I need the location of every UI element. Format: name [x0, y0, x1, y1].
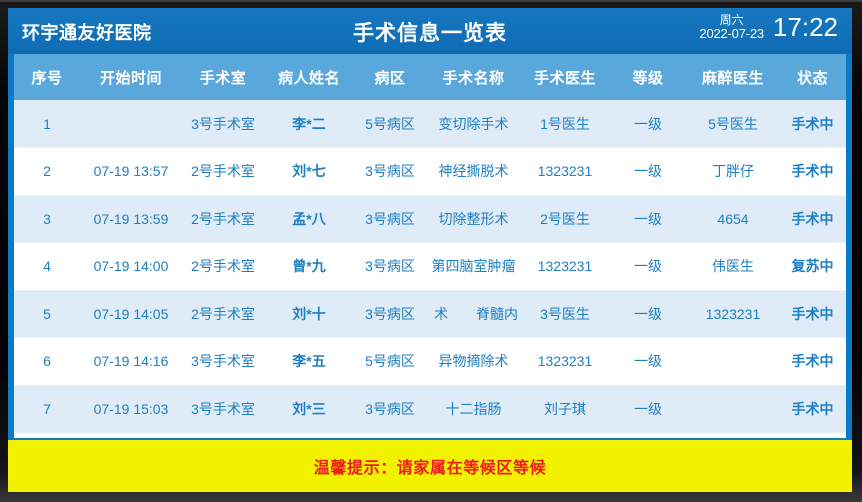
- row-operation-name: 异物摘除术: [426, 338, 521, 386]
- row-status: 复苏中: [779, 243, 846, 291]
- row-ward: 3号病区: [354, 385, 426, 433]
- surgery-table: 序号 开始时间 手术室 病人姓名 病区 手术名称 手术医生 等级 麻醉医生 状态…: [14, 54, 846, 433]
- row-index: 6: [14, 338, 80, 386]
- row-surgeon: 1号医生: [521, 100, 609, 148]
- column-header-anesthetist: 麻醉医生: [687, 54, 779, 100]
- row-level: 一级: [609, 243, 687, 291]
- row-operation-name: 变切除手术: [426, 100, 521, 148]
- table-row: 407-19 14:002号手术室曾*九3号病区第四脑室肿瘤1323231一级伟…: [14, 243, 846, 291]
- table-row: 507-19 14:052号手术室刘*十3号病区术 脊髓内3号医生一级13232…: [14, 290, 846, 338]
- row-index: 7: [14, 385, 80, 433]
- row-anesthetist: [687, 338, 779, 386]
- row-status: 手术中: [779, 338, 846, 386]
- row-status: 手术中: [779, 195, 846, 243]
- operation-name-text: 第四脑室肿瘤: [428, 256, 519, 276]
- column-header-patient: 病人姓名: [264, 54, 354, 100]
- operation-name-text: 异物摘除术: [428, 351, 519, 371]
- surgery-board-app: 环宇通友好医院 手术信息一览表 周六 2022-07-23 17:22 序: [8, 8, 852, 492]
- row-level: 一级: [609, 385, 687, 433]
- table-body: 13号手术室李*二5号病区变切除手术1号医生一级5号医生手术中207-19 13…: [14, 100, 846, 433]
- row-patient-name: 刘*三: [264, 385, 354, 433]
- table-row: 607-19 14:163号手术室李*五5号病区异物摘除术1323231一级手术…: [14, 338, 846, 386]
- footer-notice-bar: 温馨提示：请家属在等候区等候: [8, 438, 852, 492]
- column-header-operation: 手术名称: [426, 54, 521, 100]
- operation-name-text: 十二指肠: [428, 399, 519, 419]
- table-header: 序号 开始时间 手术室 病人姓名 病区 手术名称 手术医生 等级 麻醉医生 状态: [14, 54, 846, 100]
- table-row: 707-19 15:033号手术室刘*三3号病区十二指肠刘子琪一级手术中: [14, 385, 846, 433]
- row-ward: 3号病区: [354, 148, 426, 196]
- bezel-highlight: [0, 0, 862, 4]
- row-start-time: 07-19 15:03: [80, 385, 182, 433]
- row-level: 一级: [609, 148, 687, 196]
- operation-name-text: 术 脊髓内: [428, 304, 519, 324]
- table-row: 307-19 13:592号手术室孟*八3号病区切除整形术2号医生一级4654手…: [14, 195, 846, 243]
- row-patient-name: 李*五: [264, 338, 354, 386]
- row-operation-name: 术 脊髓内: [426, 290, 521, 338]
- row-anesthetist: 5号医生: [687, 100, 779, 148]
- notice-text: 温馨提示：请家属在等候区等候: [314, 454, 546, 478]
- row-operation-name: 十二指肠: [426, 385, 521, 433]
- row-index: 2: [14, 148, 80, 196]
- row-surgeon: 刘子琪: [521, 385, 609, 433]
- clock-time: 17:22: [773, 12, 838, 43]
- column-header-surgeon: 手术医生: [521, 54, 609, 100]
- row-status: 手术中: [779, 290, 846, 338]
- row-ward: 3号病区: [354, 195, 426, 243]
- row-status: 手术中: [779, 100, 846, 148]
- row-start-time: [80, 100, 182, 148]
- date-label: 2022-07-23: [699, 27, 764, 41]
- row-operating-room: 2号手术室: [182, 195, 264, 243]
- row-patient-name: 孟*八: [264, 195, 354, 243]
- column-header-start-time: 开始时间: [80, 54, 182, 100]
- column-header-room: 手术室: [182, 54, 264, 100]
- row-start-time: 07-19 13:59: [80, 195, 182, 243]
- row-operating-room: 3号手术室: [182, 100, 264, 148]
- operation-name-text: 切除整形术: [428, 209, 519, 229]
- row-ward: 3号病区: [354, 243, 426, 291]
- row-anesthetist: 伟医生: [687, 243, 779, 291]
- row-operating-room: 2号手术室: [182, 290, 264, 338]
- column-header-status: 状态: [779, 54, 846, 100]
- table-row: 207-19 13:572号手术室刘*七3号病区神经撕脱术1323231一级丁胖…: [14, 148, 846, 196]
- row-start-time: 07-19 14:00: [80, 243, 182, 291]
- row-patient-name: 刘*十: [264, 290, 354, 338]
- date-stack: 周六 2022-07-23: [699, 14, 764, 40]
- table-header-row: 序号 开始时间 手术室 病人姓名 病区 手术名称 手术医生 等级 麻醉医生 状态: [14, 54, 846, 100]
- row-level: 一级: [609, 290, 687, 338]
- row-operating-room: 2号手术室: [182, 243, 264, 291]
- column-header-level: 等级: [609, 54, 687, 100]
- row-index: 1: [14, 100, 80, 148]
- row-surgeon: 3号医生: [521, 290, 609, 338]
- row-status: 手术中: [779, 148, 846, 196]
- row-level: 一级: [609, 338, 687, 386]
- row-index: 3: [14, 195, 80, 243]
- operation-name-text: 神经撕脱术: [428, 161, 519, 181]
- row-index: 5: [14, 290, 80, 338]
- row-surgeon: 1323231: [521, 148, 609, 196]
- row-start-time: 07-19 14:05: [80, 290, 182, 338]
- row-operating-room: 3号手术室: [182, 338, 264, 386]
- row-ward: 5号病区: [354, 338, 426, 386]
- row-anesthetist: 丁胖仔: [687, 148, 779, 196]
- column-header-index: 序号: [14, 54, 80, 100]
- row-operating-room: 3号手术室: [182, 385, 264, 433]
- row-operation-name: 切除整形术: [426, 195, 521, 243]
- row-level: 一级: [609, 100, 687, 148]
- row-index: 4: [14, 243, 80, 291]
- row-surgeon: 2号医生: [521, 195, 609, 243]
- app-header: 环宇通友好医院 手术信息一览表 周六 2022-07-23 17:22: [8, 8, 852, 54]
- datetime-block: 周六 2022-07-23 17:22: [699, 12, 838, 43]
- row-ward: 5号病区: [354, 100, 426, 148]
- surgery-table-container: 序号 开始时间 手术室 病人姓名 病区 手术名称 手术医生 等级 麻醉医生 状态…: [14, 54, 846, 438]
- row-surgeon: 1323231: [521, 338, 609, 386]
- row-anesthetist: 4654: [687, 195, 779, 243]
- row-ward: 3号病区: [354, 290, 426, 338]
- row-level: 一级: [609, 195, 687, 243]
- column-header-ward: 病区: [354, 54, 426, 100]
- table-row: 13号手术室李*二5号病区变切除手术1号医生一级5号医生手术中: [14, 100, 846, 148]
- row-operation-name: 神经撕脱术: [426, 148, 521, 196]
- operation-name-text: 变切除手术: [428, 114, 519, 134]
- row-start-time: 07-19 13:57: [80, 148, 182, 196]
- row-status: 手术中: [779, 385, 846, 433]
- row-operating-room: 2号手术室: [182, 148, 264, 196]
- row-start-time: 07-19 14:16: [80, 338, 182, 386]
- row-operation-name: 第四脑室肿瘤: [426, 243, 521, 291]
- row-patient-name: 刘*七: [264, 148, 354, 196]
- row-patient-name: 李*二: [264, 100, 354, 148]
- row-anesthetist: 1323231: [687, 290, 779, 338]
- row-anesthetist: [687, 385, 779, 433]
- monitor-bezel: 环宇通友好医院 手术信息一览表 周六 2022-07-23 17:22 序: [0, 0, 862, 502]
- row-surgeon: 1323231: [521, 243, 609, 291]
- row-patient-name: 曾*九: [264, 243, 354, 291]
